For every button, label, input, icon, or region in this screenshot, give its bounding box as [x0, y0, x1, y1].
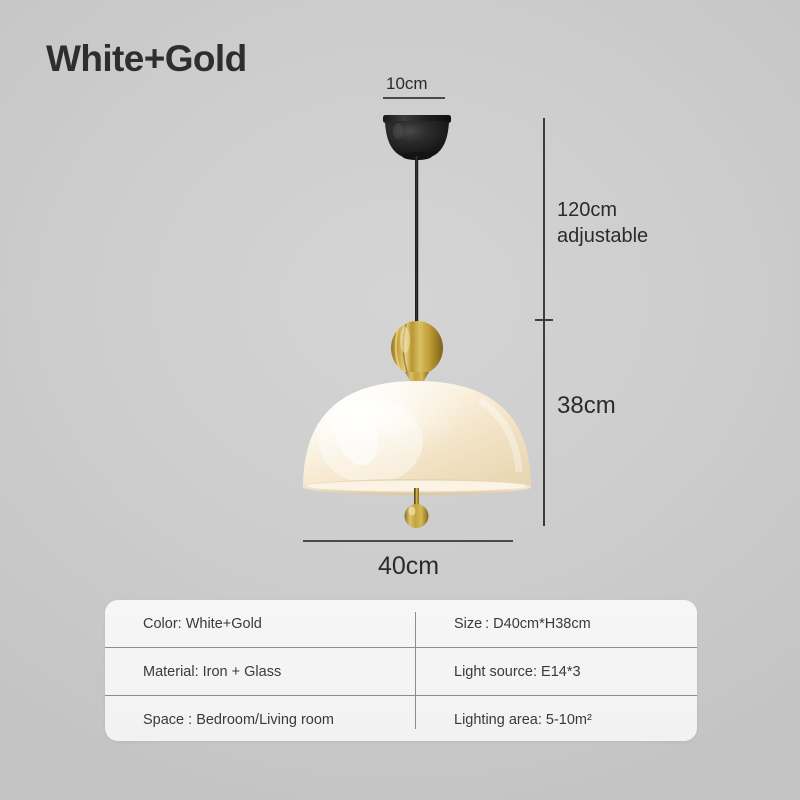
shade-diameter-rule: [303, 540, 513, 542]
brass-finial-icon: [405, 488, 429, 528]
specification-table: Color: White+Gold Size : D40cm*H38cm Mat…: [105, 600, 697, 743]
drop-length-qualifier: adjustable: [557, 225, 648, 247]
suspension-cord: [415, 156, 418, 328]
spec-color-value: Color: White+Gold: [105, 600, 401, 648]
spec-space-value: Space : Bedroom/Living room: [105, 696, 401, 744]
spec-size-value: Size : D40cm*H38cm: [401, 600, 697, 648]
brass-sphere-connector-icon: [391, 321, 443, 392]
shade-diameter-label: 40cm: [378, 552, 439, 581]
table-row: Material: Iron + Glass Light source: E14…: [105, 648, 697, 696]
ceiling-canopy-icon: [383, 115, 451, 160]
vertical-dimension-tick: [535, 319, 553, 321]
product-spec-image: White+Gold: [0, 0, 800, 800]
table-row: Color: White+Gold Size : D40cm*H38cm: [105, 600, 697, 648]
canopy-width-label: 10cm: [386, 74, 428, 94]
vertical-dimension-line: [543, 118, 545, 526]
specification-card: Color: White+Gold Size : D40cm*H38cm Mat…: [105, 600, 697, 741]
spec-material-value: Material: Iron + Glass: [105, 648, 401, 696]
canopy-width-rule: [383, 97, 445, 99]
table-row: Space : Bedroom/Living room Lighting are…: [105, 696, 697, 744]
drop-length-value: 120cm: [557, 199, 617, 221]
shade-height-label: 38cm: [557, 392, 616, 420]
drop-length-label: 120cm adjustable: [557, 197, 648, 249]
glass-dome-shade: [303, 381, 531, 495]
page-title: White+Gold: [46, 38, 247, 80]
spec-lighting-area-value: Lighting area: 5-10m²: [401, 696, 697, 744]
spec-light-source-value: Light source: E14*3: [401, 648, 697, 696]
